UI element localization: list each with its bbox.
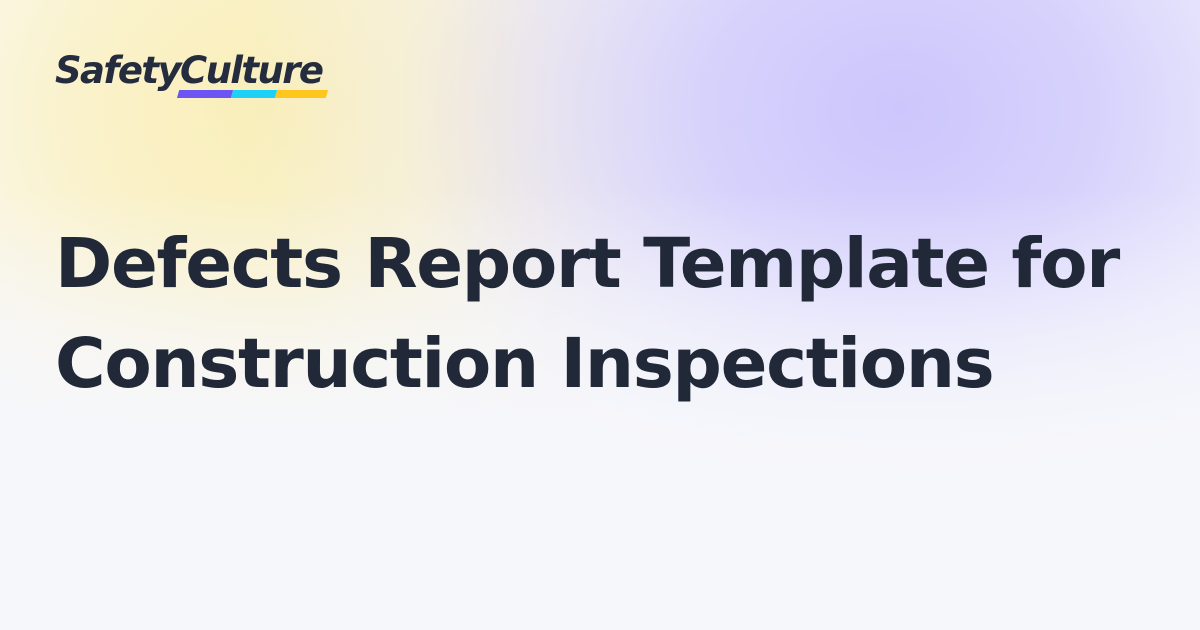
logo-underline-accent [177,90,328,98]
logo-underline-segment-cyan [230,90,277,98]
safetyculture-logo[interactable]: SafetyCulture [55,48,345,108]
logo-underline-segment-yellow [275,90,328,98]
social-share-card: SafetyCulture Defects Report Template fo… [0,0,1200,630]
page-title-line-2: Construction Inspections [55,314,1115,414]
page-title-line-1: Defects Report Template for [55,214,1115,314]
logo-underline-segment-purple [177,90,233,98]
logo-word-safety: Safety [55,49,180,92]
page-title: Defects Report Template for Construction… [55,214,1115,414]
logo-wordmark: SafetyCulture [55,48,322,94]
logo-word-culture: Culture [180,49,322,92]
card-content: SafetyCulture Defects Report Template fo… [0,0,1200,630]
